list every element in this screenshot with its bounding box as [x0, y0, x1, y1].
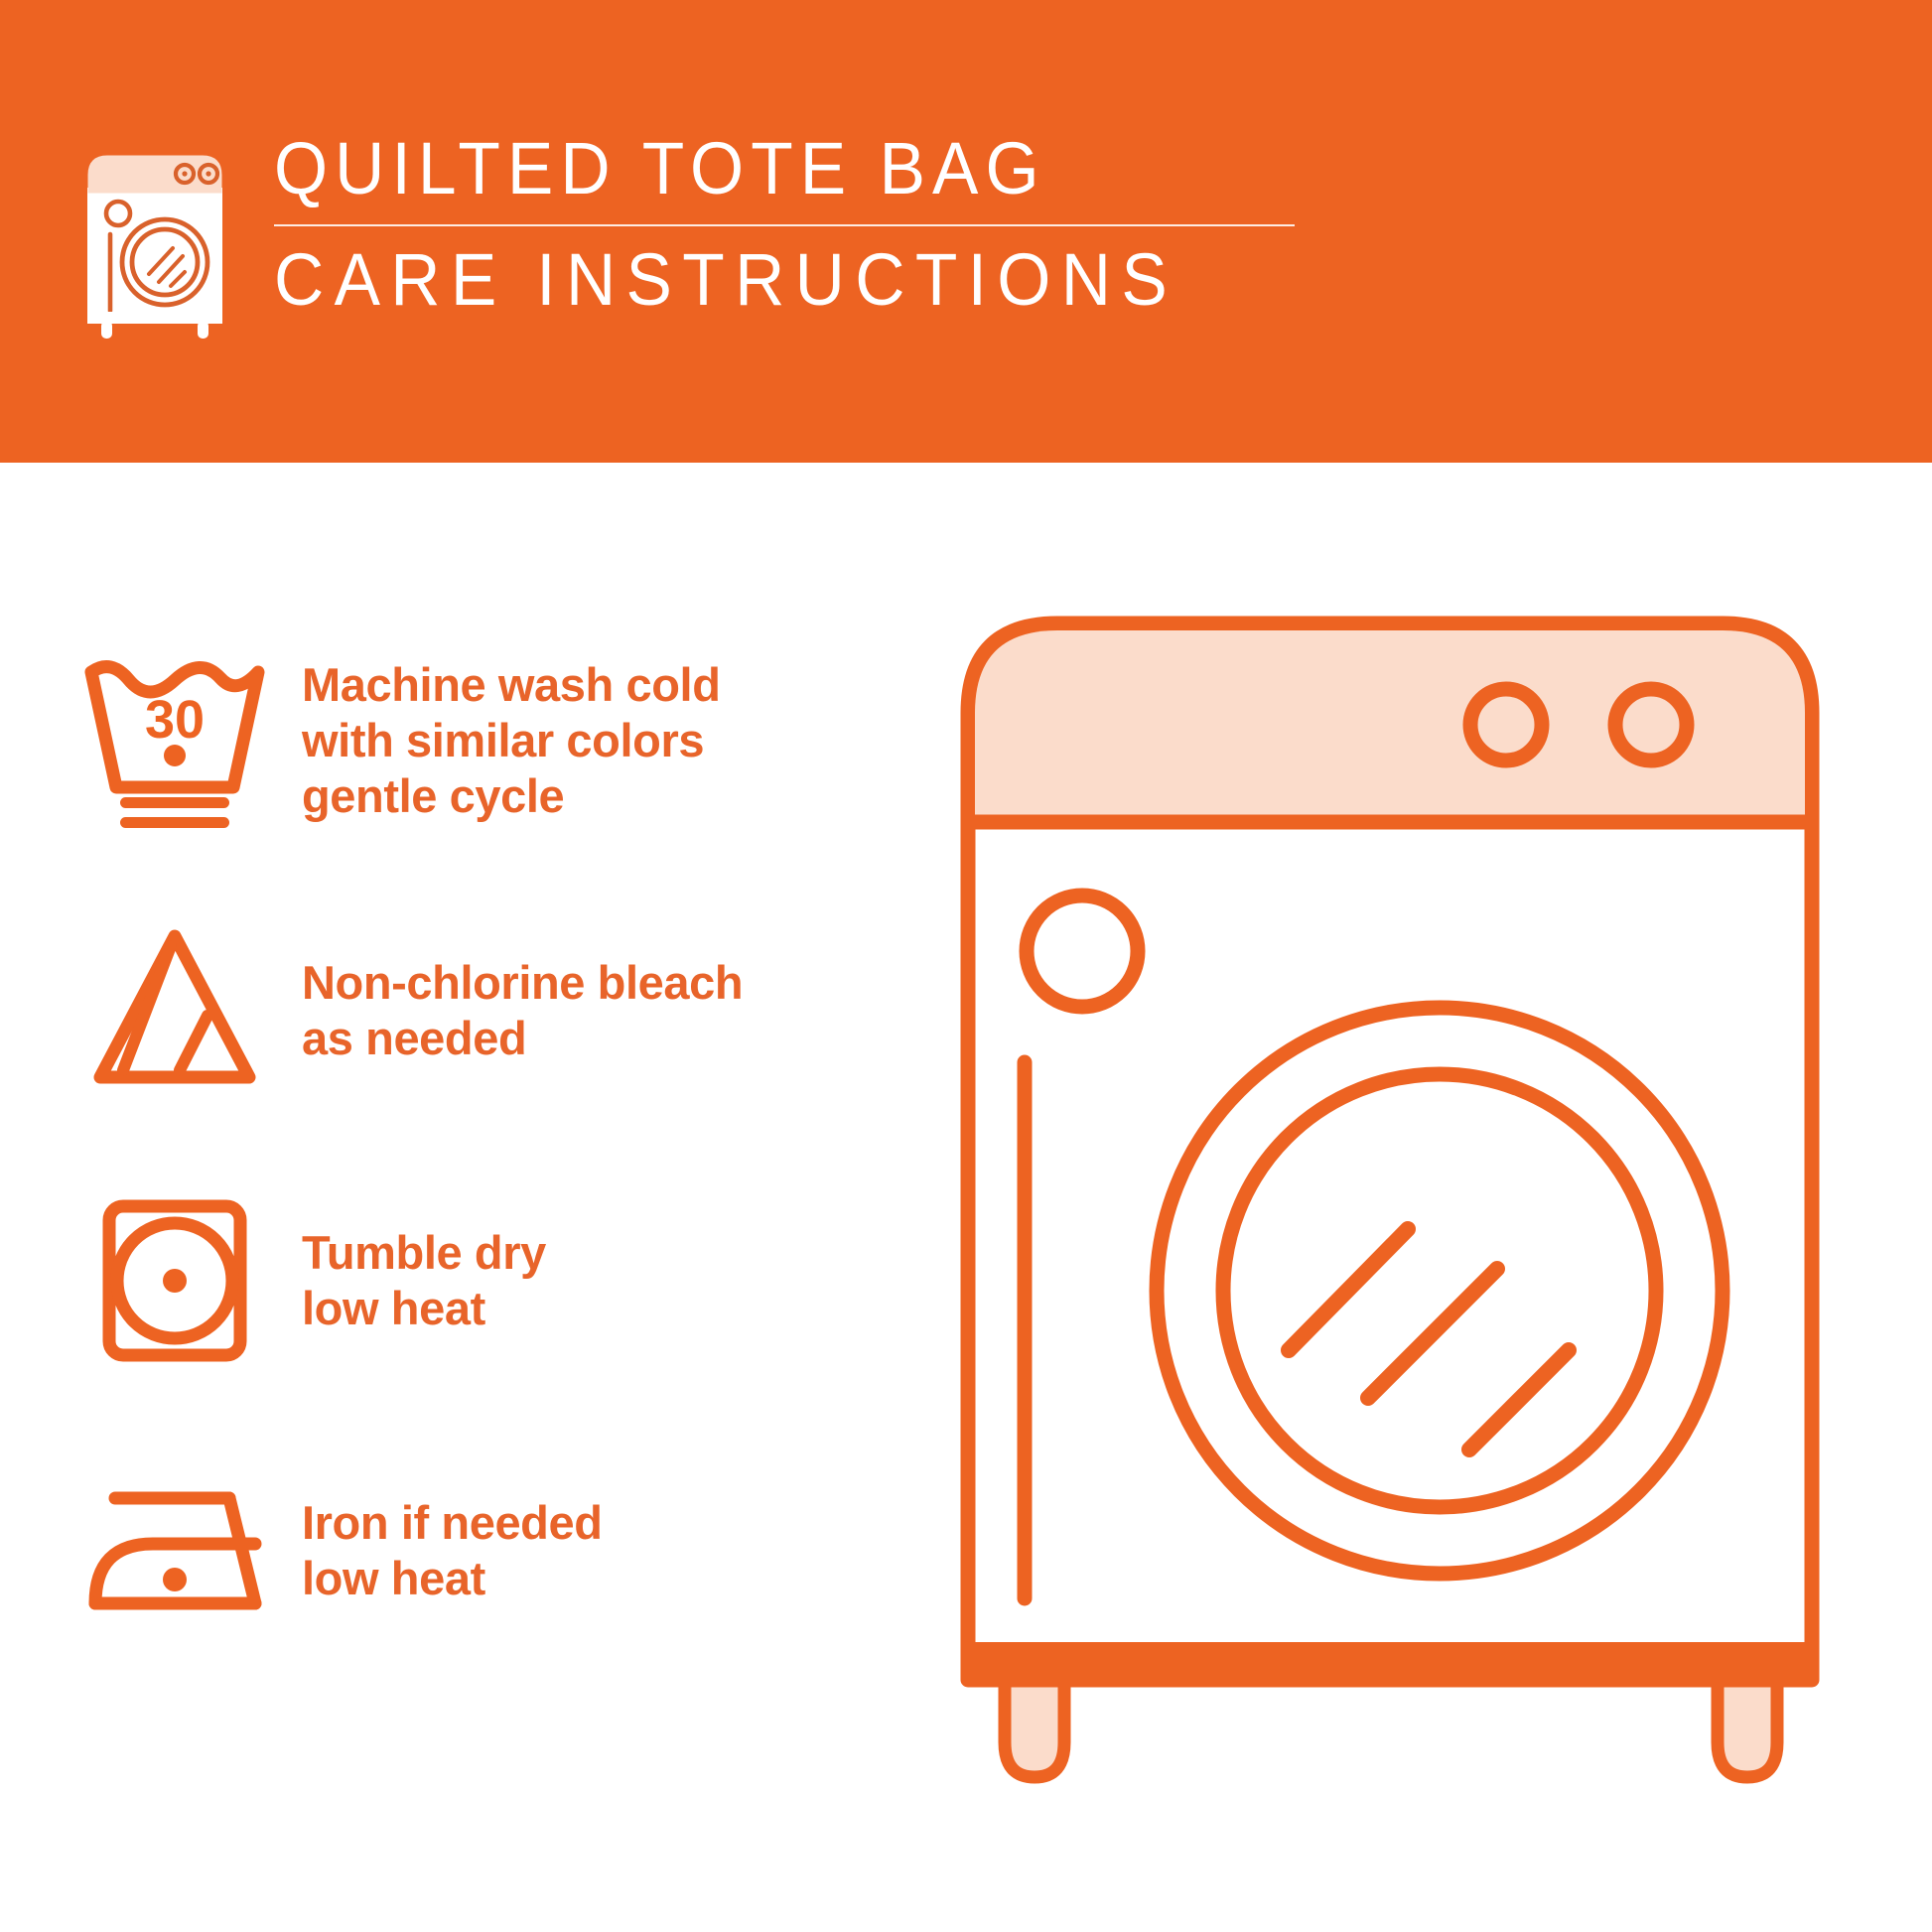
tumble-dry-dot [163, 1269, 187, 1293]
knob-left[interactable] [1470, 689, 1542, 760]
instruction-item-tumble-dry: Tumble dry low heat [0, 1181, 913, 1380]
iron-low-heat-icon [71, 1451, 278, 1650]
washer-legs [1005, 1678, 1777, 1777]
title-divider [274, 224, 1295, 226]
washer-door-inner-ring [1223, 1074, 1656, 1507]
instruction-line: Tumble dry [302, 1225, 546, 1281]
instruction-text-wash: Machine wash cold with similar colors ge… [302, 657, 721, 824]
instruction-line: Machine wash cold [302, 657, 721, 713]
iron-dot [163, 1568, 187, 1591]
care-instructions-page: QUILTED TOTE BAG CARE INSTRUCTIONS 30 Ma… [0, 0, 1932, 1932]
instruction-item-bleach: Non-chlorine bleach as needed [0, 911, 913, 1110]
washing-machine-icon [81, 147, 228, 342]
instruction-line: Iron if needed [302, 1495, 603, 1551]
instruction-text-tumble-dry: Tumble dry low heat [302, 1225, 546, 1336]
instruction-list: 30 Machine wash cold with similar colors… [0, 463, 953, 1932]
tumble-dry-low-icon [71, 1181, 278, 1380]
instruction-line: gentle cycle [302, 768, 721, 824]
instruction-line: with similar colors [302, 713, 721, 768]
knob-right[interactable] [1615, 689, 1687, 760]
non-chlorine-bleach-triangle-icon [71, 911, 278, 1110]
wash-temperature-label: 30 [145, 690, 205, 750]
page-title: QUILTED TOTE BAG [274, 127, 1235, 210]
instruction-item-iron: Iron if needed low heat [0, 1451, 913, 1650]
washing-machine-logo [81, 147, 228, 342]
washer-base-bar [968, 1642, 1812, 1680]
washing-machine-illustration [953, 596, 1866, 1886]
header-content: QUILTED TOTE BAG CARE INSTRUCTIONS [81, 127, 1297, 342]
instruction-text-iron: Iron if needed low heat [302, 1495, 603, 1606]
instruction-text-bleach: Non-chlorine bleach as needed [302, 955, 743, 1066]
instruction-line: Non-chlorine bleach [302, 955, 743, 1011]
header-titles: QUILTED TOTE BAG CARE INSTRUCTIONS [274, 127, 1297, 322]
wash-tub-30-gentle-icon: 30 [71, 641, 278, 840]
instruction-line: low heat [302, 1551, 603, 1606]
instruction-line: low heat [302, 1281, 546, 1336]
instruction-line: as needed [302, 1011, 743, 1066]
page-subtitle: CARE INSTRUCTIONS [274, 238, 1235, 322]
header-banner: QUILTED TOTE BAG CARE INSTRUCTIONS [0, 0, 1932, 463]
washer-indicator-circle [1027, 896, 1138, 1007]
wash-dot [164, 745, 186, 766]
instruction-item-wash: 30 Machine wash cold with similar colors… [0, 641, 913, 840]
